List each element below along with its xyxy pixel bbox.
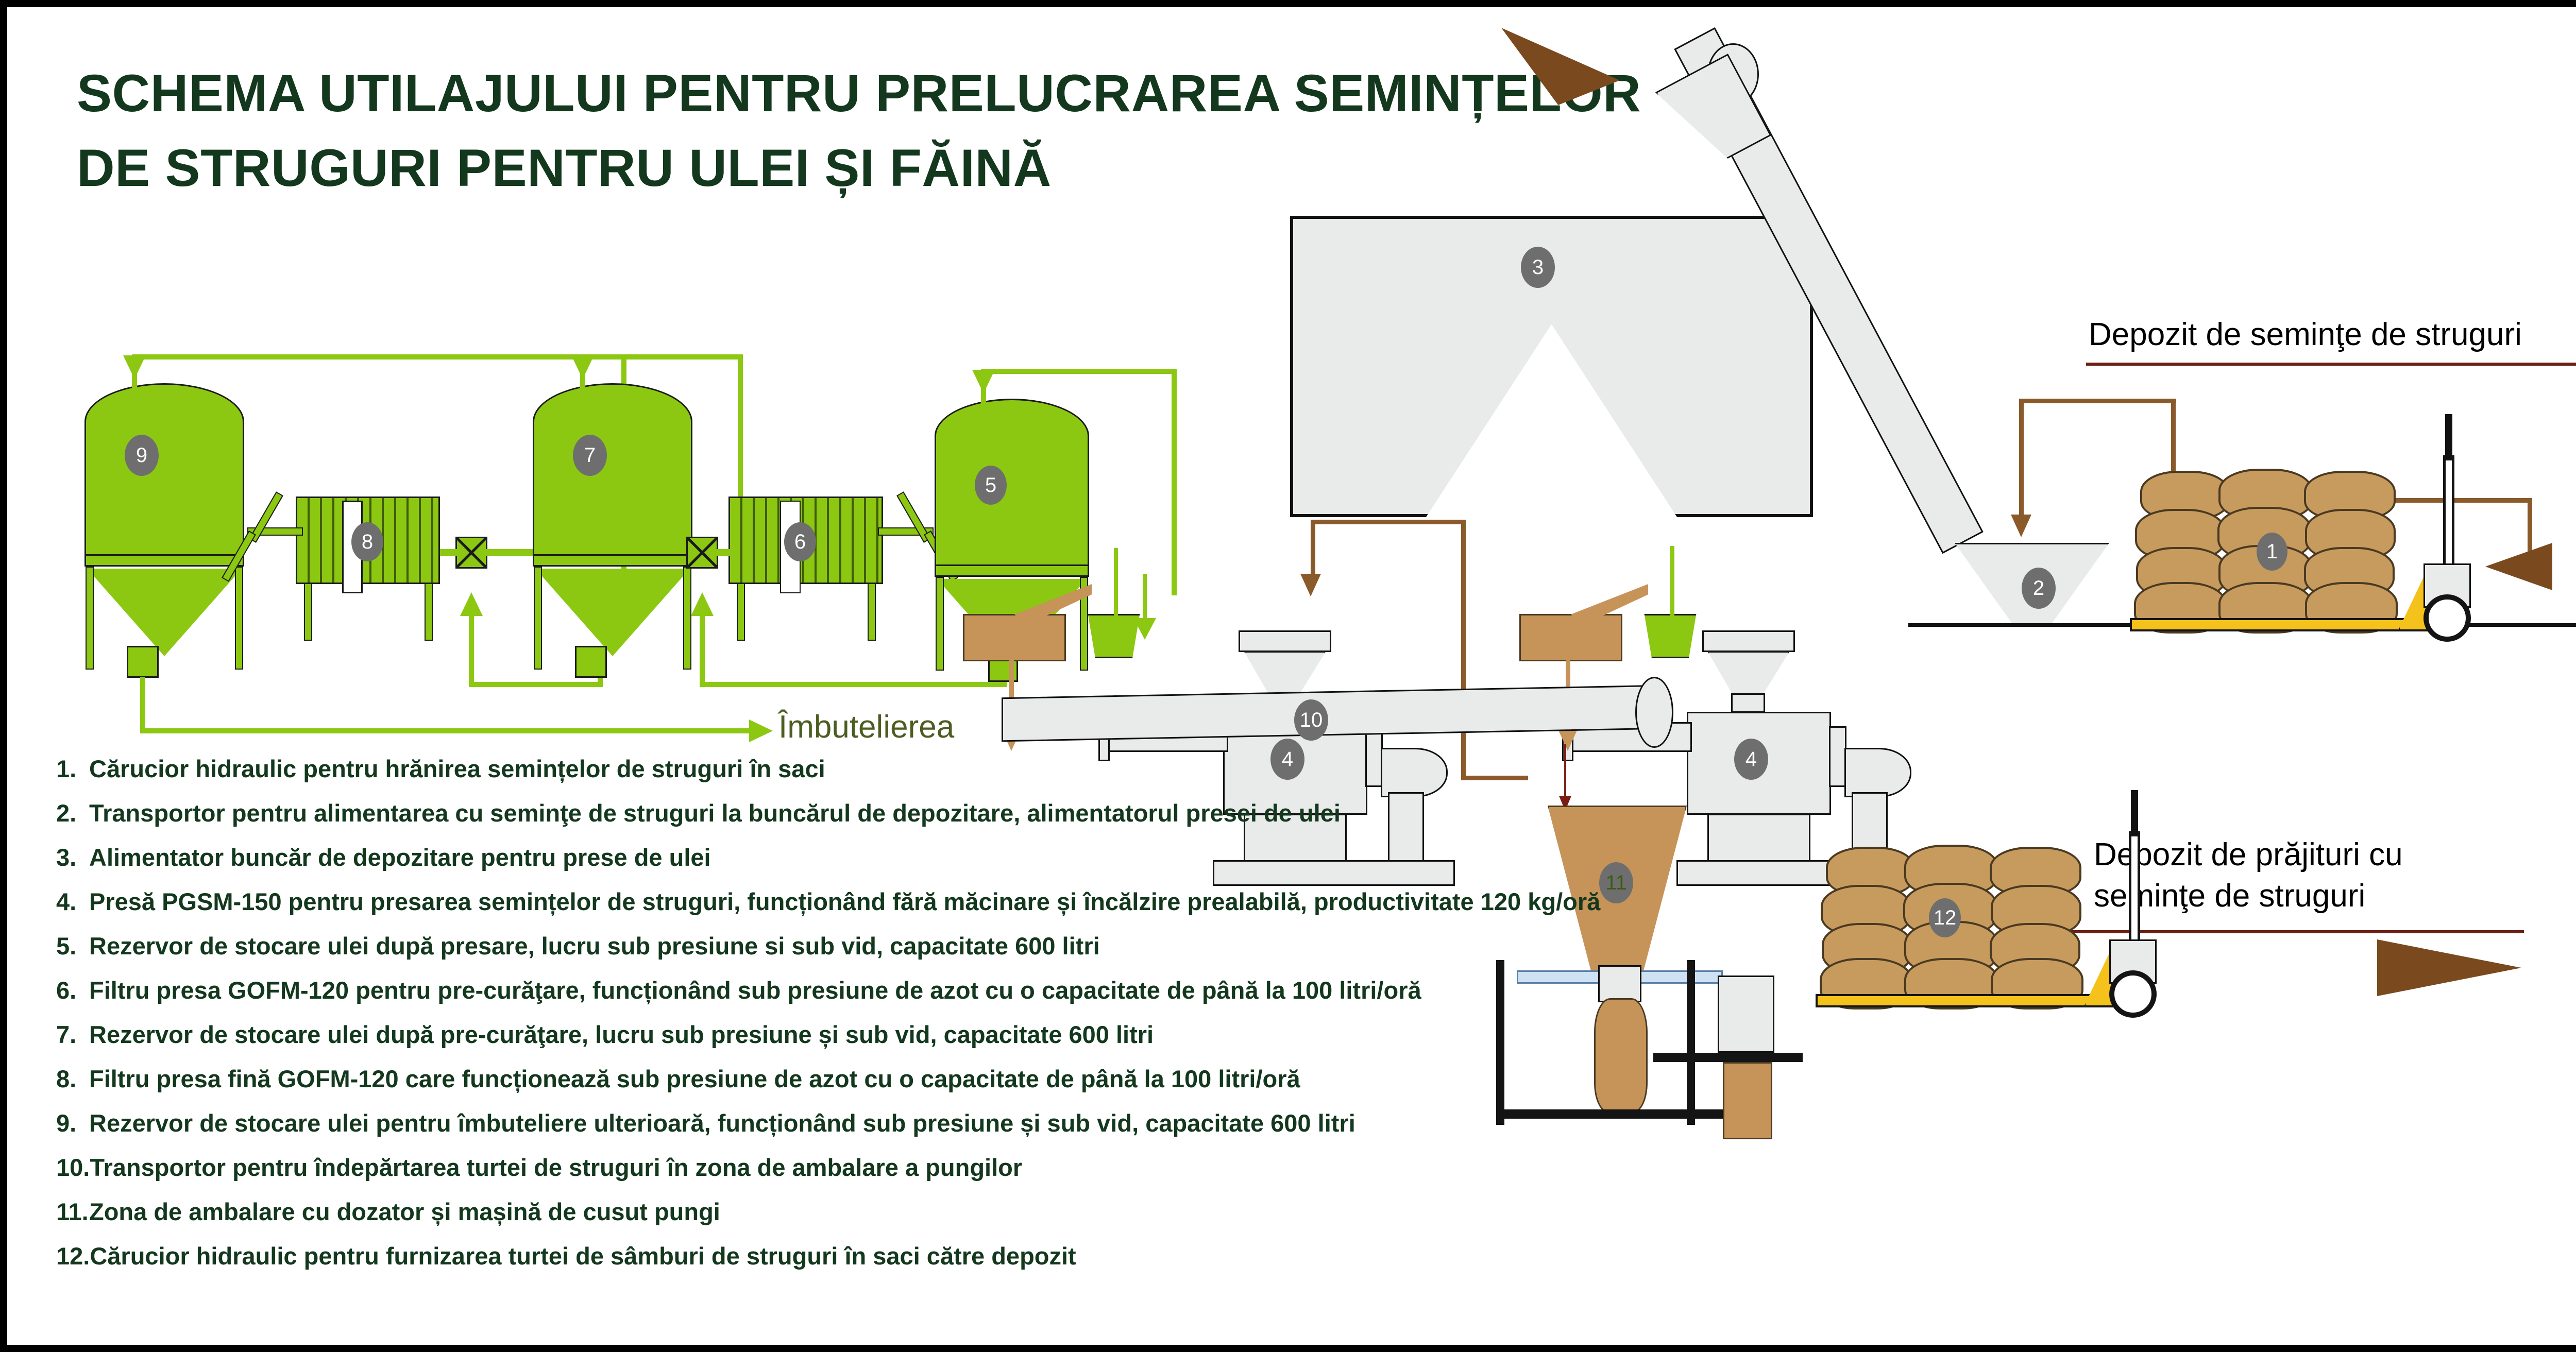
press-right-feed-throat	[1731, 693, 1765, 713]
press-right-flange	[1829, 726, 1846, 787]
pipe-seed-to-conveyor-v	[2019, 399, 2024, 517]
conveyor-10-head-pulley	[1635, 677, 1673, 748]
legend-item: 1. Cărucior hidraulic pentru hrănirea se…	[56, 757, 1756, 781]
badge-2: 2	[2022, 568, 2056, 609]
legend-number: 4.	[56, 889, 89, 914]
press-left-feed-top	[1239, 630, 1331, 652]
bottling-label: Îmbutelierea	[778, 709, 954, 745]
legend-item: 5. Rezervor de stocare ulei după presare…	[56, 934, 1756, 958]
valve-8-7-cross	[455, 537, 487, 569]
arrow-oil-into-cup-right	[1661, 618, 1684, 640]
pipe-from-tank-5-bottom	[700, 682, 1007, 687]
pipe-hopper-left-branch-v	[1311, 520, 1315, 580]
legend-item: 3. Alimentator buncăr de depozitare pent…	[56, 845, 1756, 869]
legend-text: Rezervor de stocare ulei după pre-curăţa…	[89, 1022, 1154, 1047]
legend-item: 7. Rezervor de stocare ulei după pre-cur…	[56, 1022, 1756, 1047]
pipe-valve-to-6	[716, 549, 733, 556]
arrow-oil-into-cup-left	[1133, 618, 1156, 640]
legend-item: 11. Zona de ambalare cu dozator și mașin…	[56, 1200, 1756, 1224]
pipe-seed-to-conveyor-h	[2019, 399, 2176, 403]
legend-item: 12. Cărucior hidraulic pentru furnizarea…	[56, 1244, 1756, 1268]
arrow-into-valve-6	[691, 592, 714, 616]
legend-item: 6. Filtru presa GOFM-120 pentru pre-cură…	[56, 978, 1756, 1002]
filter-press-6-leg-left	[737, 583, 745, 641]
legend-text: Filtru presa GOFM-120 pentru pre-curăţar…	[89, 978, 1421, 1002]
arrow-bottling	[749, 720, 773, 742]
pallet-truck-12-handle-grip	[2131, 790, 2138, 836]
legend-number: 2.	[56, 801, 89, 825]
sack-stack-12: 12	[1826, 842, 2094, 996]
tank-9-leg-left	[86, 567, 94, 670]
diagram-canvas: SCHEMA UTILAJULUI PENTRU PRELUCRAREA SEM…	[0, 0, 2576, 1352]
tank-5-leg-left	[936, 577, 944, 671]
legend-number: 5.	[56, 934, 89, 958]
pipe-from-press-oil-outlet	[1172, 369, 1177, 595]
legend-number: 7.	[56, 1022, 89, 1047]
legend-text: Alimentator buncăr de depozitare pentru …	[89, 845, 711, 869]
badge-4-right: 4	[1734, 739, 1768, 780]
legend-number: 11.	[56, 1200, 89, 1224]
pallet-truck-1-wheel	[2424, 594, 2471, 642]
badge-11: 11	[1599, 862, 1633, 903]
tank-5-body	[935, 399, 1089, 569]
badge-4-left: 4	[1270, 739, 1304, 780]
legend-item: 8. Filtru presa fină GOFM-120 care funcț…	[56, 1067, 1756, 1091]
arrow-seed-into-conveyor	[2011, 515, 2031, 537]
legend-number: 8.	[56, 1067, 89, 1091]
legend-item: 4. Presă PGSM-150 pentru presarea seminț…	[56, 889, 1756, 914]
legend-item: 10. Transportor pentru îndepărtarea turt…	[56, 1155, 1756, 1179]
legend-list: 1. Cărucior hidraulic pentru hrănirea se…	[56, 757, 1756, 1288]
legend-text: Presă PGSM-150 pentru presarea semințelo…	[89, 889, 1600, 914]
page-title: SCHEMA UTILAJULUI PENTRU PRELUCRAREA SEM…	[77, 56, 1725, 206]
badge-8: 8	[351, 522, 383, 561]
title-line-2: DE STRUGURI PENTRU ULEI ȘI FĂINĂ	[77, 131, 1725, 206]
pipe-top-to-tank-7	[580, 354, 743, 360]
arrow-into-valve-8	[460, 592, 483, 616]
tank-9-outlet-valve	[127, 646, 159, 678]
legend-text: Rezervor de stocare ulei după presare, l…	[89, 934, 1100, 958]
tank-9-leg-right	[235, 567, 243, 670]
badge-6: 6	[784, 522, 816, 561]
tank-5-collar	[935, 564, 1089, 577]
legend-number: 3.	[56, 845, 89, 869]
badge-12: 12	[1929, 898, 1961, 937]
badge-1: 1	[2257, 533, 2287, 571]
pallet-truck-1-fork	[2130, 618, 2408, 631]
pallet-truck-1-handle	[2443, 455, 2454, 574]
press-right-feed-top	[1702, 630, 1795, 652]
legend-number: 12.	[56, 1244, 90, 1268]
seed-store-underline	[2086, 363, 2576, 366]
pipe-from-tank-7-bottom	[469, 682, 603, 687]
legend-text: Cărucior hidraulic pentru hrănirea semin…	[89, 757, 825, 781]
filter-press-8-leg-right	[425, 583, 433, 641]
pallet-truck-12-handle	[2129, 831, 2140, 950]
legend-text: Rezervor de stocare ulei pentru îmbuteli…	[89, 1111, 1355, 1135]
badge-10: 10	[1294, 699, 1328, 741]
title-line-1: SCHEMA UTILAJULUI PENTRU PRELUCRAREA SEM…	[77, 56, 1725, 131]
pipe-8-to-valve	[440, 549, 459, 556]
pipe-hopper-to-cakebox-v	[1461, 520, 1466, 780]
sack-stack-1: 1	[2140, 466, 2408, 620]
tank-7-outlet-valve	[575, 646, 607, 678]
legend-item: 9. Rezervor de stocare ulei pentru îmbut…	[56, 1111, 1756, 1135]
pipe-top-to-tank-9	[132, 354, 626, 360]
arrow-to-cake-store	[2377, 939, 2521, 996]
tank-7-body	[533, 383, 692, 558]
press-right-feed-funnel	[1707, 651, 1790, 696]
tank-7-leg-left	[534, 567, 542, 670]
badge-7: 7	[573, 435, 607, 476]
legend-text: Transportor pentru alimentarea cu seminţ…	[89, 801, 1341, 825]
legend-text: Filtru presa fină GOFM-120 care funcțion…	[89, 1067, 1300, 1091]
arrow-hopper-to-press-left	[1300, 574, 1321, 596]
badge-3: 3	[1521, 247, 1555, 288]
legend-text: Zona de ambalare cu dozator și mașină de…	[89, 1200, 720, 1224]
badge-9: 9	[125, 435, 159, 476]
press-right-motor	[1844, 748, 1911, 797]
tank-9-body	[84, 383, 244, 558]
legend-number: 6.	[56, 978, 89, 1002]
legend-number: 1.	[56, 757, 89, 781]
pallet-truck-1-handle-grip	[2445, 414, 2452, 460]
legend-text: Cărucior hidraulic pentru furnizarea tur…	[90, 1244, 1076, 1268]
legend-text: Transportor pentru îndepărtarea turtei d…	[90, 1155, 1022, 1179]
badge-5: 5	[975, 466, 1007, 505]
filter-press-6-leg-right	[868, 583, 876, 641]
legend-number: 10.	[56, 1155, 90, 1179]
tank-7-leg-right	[683, 567, 691, 670]
pipe-bottling-horizontal	[140, 728, 753, 733]
arrow-cake-right-onto-conveyor	[1558, 730, 1577, 751]
seed-store-label: Depozit de seminţe de struguri	[2089, 316, 2522, 353]
filter-press-8-leg-left	[304, 583, 312, 641]
pallet-truck-12-wheel	[2109, 970, 2157, 1018]
pipe-oil-down-left-a	[1114, 548, 1118, 616]
pipe-hopper-left-branch-h	[1311, 520, 1465, 524]
pipe-8-feed-riser	[469, 615, 474, 687]
legend-item: 2. Transportor pentru alimentarea cu sem…	[56, 801, 1756, 825]
legend-number: 9.	[56, 1111, 89, 1135]
tank-9-collar	[84, 554, 244, 567]
pipe-oil-down-right-a	[1670, 546, 1674, 618]
press-left-feed-funnel	[1244, 651, 1326, 696]
arrow-from-seed-store	[2485, 543, 2552, 590]
pipe-top-to-tank-5	[981, 369, 1177, 374]
tank-7-collar	[533, 554, 692, 567]
pipe-6-feed-riser	[700, 615, 705, 687]
valve-6-inlet-cross	[686, 537, 718, 569]
pipe-tank-9-to-bottling	[140, 677, 145, 733]
pipe-oil-down-left-b	[1143, 574, 1147, 623]
pallet-truck-12-fork	[1816, 994, 2094, 1007]
